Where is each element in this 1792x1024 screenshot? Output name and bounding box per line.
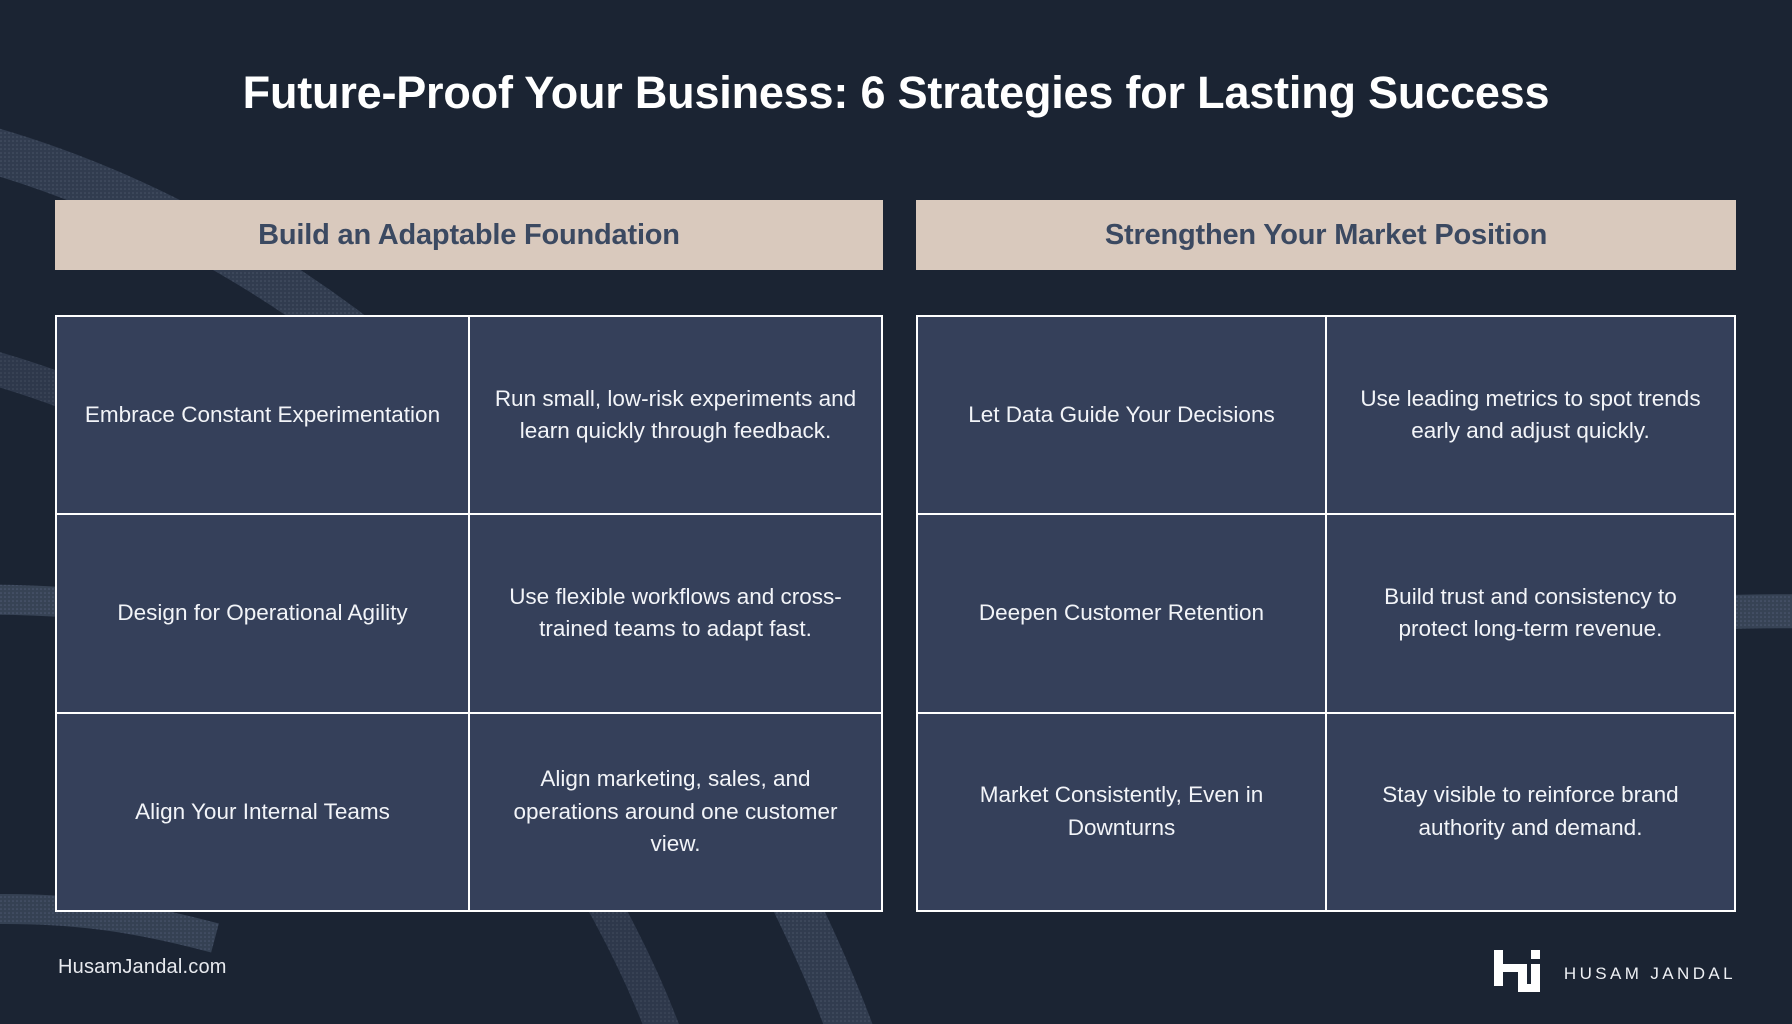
table-cell-description: Use flexible workflows and cross-trained… (470, 515, 881, 711)
table-cell-term: Deepen Customer Retention (918, 515, 1325, 711)
panel-header-left: Build an Adaptable Foundation (55, 200, 883, 270)
table-cell-description: Stay visible to reinforce brand authorit… (1327, 714, 1734, 910)
panel-header-right: Strengthen Your Market Position (916, 200, 1736, 270)
table-cell-description: Align marketing, sales, and operations a… (470, 714, 881, 910)
brand-name-text: HUSAM JANDAL (1564, 964, 1736, 984)
table-cell-term: Market Consistently, Even in Downturns (918, 714, 1325, 910)
panel-build-an-adaptable-foundation: Build an Adaptable Foundation Embrace Co… (55, 200, 883, 912)
table-cell-description: Use leading metrics to spot trends early… (1327, 317, 1734, 513)
hj-monogram-icon (1492, 948, 1548, 1000)
table-cell-term: Align Your Internal Teams (57, 714, 468, 910)
panel-strengthen-your-market-position: Strengthen Your Market Position Let Data… (916, 200, 1736, 912)
table-cell-term: Design for Operational Agility (57, 515, 468, 711)
table-cell-description: Run small, low-risk experiments and lear… (470, 317, 881, 513)
table-cell-description: Build trust and consistency to protect l… (1327, 515, 1734, 711)
footer-website-text: HusamJandal.com (58, 956, 227, 979)
table-cell-term: Let Data Guide Your Decisions (918, 317, 1325, 513)
table-cell-term: Embrace Constant Experimentation (57, 317, 468, 513)
strategy-table-right: Let Data Guide Your Decisions Use leadin… (916, 315, 1736, 912)
page-title: Future-Proof Your Business: 6 Strategies… (0, 68, 1792, 118)
infographic-page: Future-Proof Your Business: 6 Strategies… (0, 0, 1792, 1024)
brand-lockup: HUSAM JANDAL (1492, 948, 1736, 1000)
strategy-table-left: Embrace Constant Experimentation Run sma… (55, 315, 883, 912)
